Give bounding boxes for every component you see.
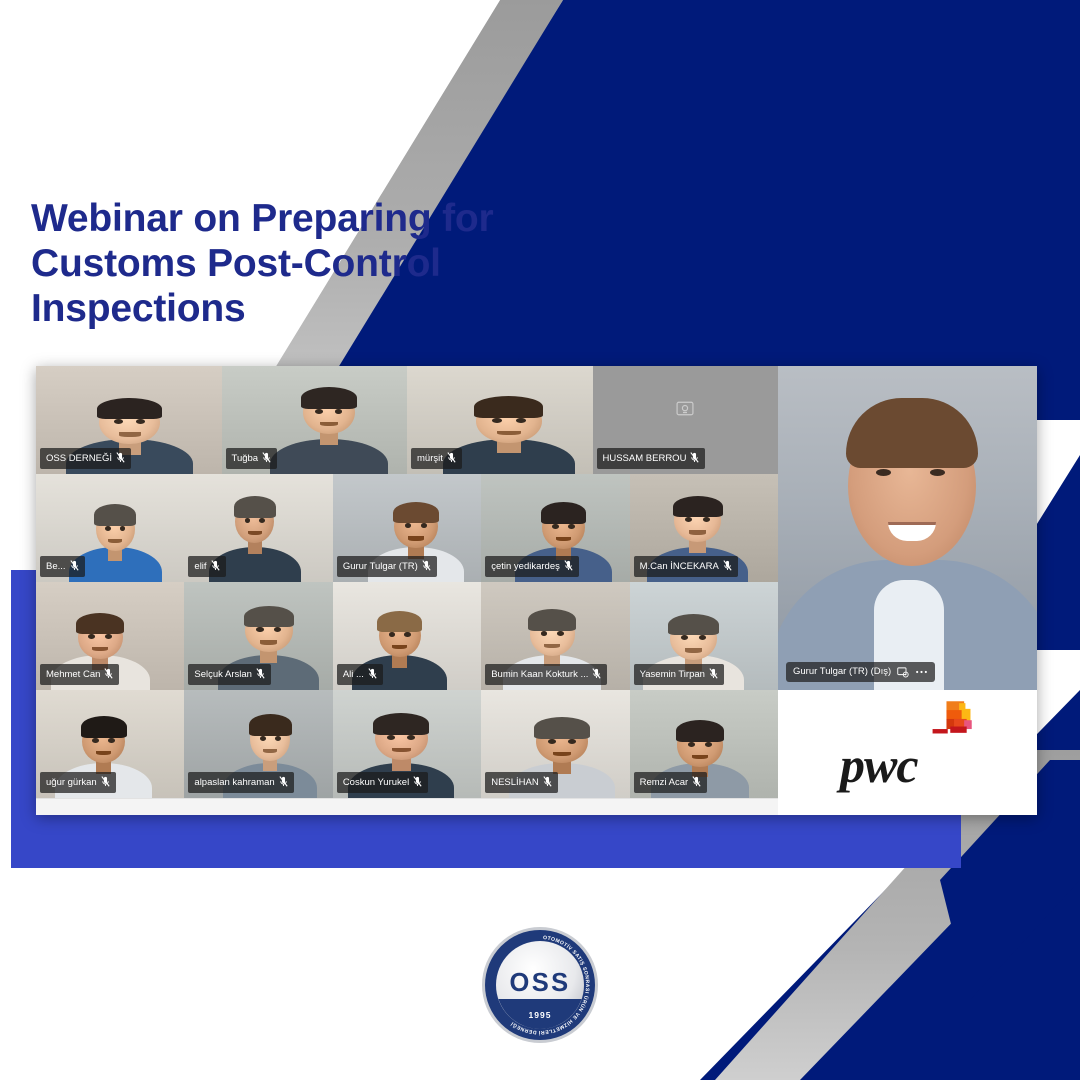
participant-mouth <box>689 530 706 534</box>
participant-tile[interactable]: Gurur Tulgar (TR) <box>333 474 481 582</box>
mic-muted-icon <box>422 560 431 574</box>
participant-nametag: Gurur Tulgar (TR) <box>337 556 437 577</box>
participant-name: HUSSAM BERROU <box>603 454 687 464</box>
participant-eye-right <box>120 526 126 531</box>
meeting-toolbar-strip <box>36 798 778 815</box>
participant-tile[interactable]: Bumin Kaan Kokturk ... <box>481 582 629 690</box>
participant-mouth <box>685 648 702 652</box>
participant-hair <box>81 716 127 738</box>
participant-tile[interactable]: Mehmet Can <box>36 582 184 690</box>
oss-acronym: OSS <box>509 969 570 997</box>
participant-eye-right <box>105 634 112 639</box>
participant-hair <box>534 717 590 739</box>
participant-hair <box>234 496 276 518</box>
participant-nametag: Yasemin Tirpan <box>634 664 724 685</box>
mic-muted-icon <box>709 668 718 682</box>
oss-association-logo: OSS 1995 OTOMOTİV SATIŞ SONRASI ÜRÜN VE … <box>480 925 600 1045</box>
participant-tile[interactable]: Tuğba <box>222 366 408 474</box>
participant-eye-left <box>492 418 502 423</box>
participant-eye-left <box>105 526 111 531</box>
participant-eye-right <box>516 418 526 423</box>
participant-hair <box>249 714 292 736</box>
active-speaker-name: Gurur Tulgar (TR) (Dış) <box>793 667 891 677</box>
participant-mouth <box>497 431 521 435</box>
mic-muted-icon <box>368 668 377 682</box>
participant-mouth <box>692 755 708 759</box>
participant-hair <box>673 496 723 518</box>
participant-tile[interactable]: mürşit <box>407 366 593 474</box>
participant-nametag: elif <box>188 556 225 577</box>
participant-eye-left <box>92 738 98 743</box>
participant-hair <box>97 398 161 420</box>
participant-hair <box>377 611 422 633</box>
active-speaker-tile[interactable]: Gurur Tulgar (TR) (Dış) <box>778 366 1037 690</box>
participant-tile[interactable]: HUSSAM BERROU <box>593 366 779 474</box>
participant-eye-left <box>552 524 558 529</box>
mic-muted-icon <box>256 668 265 682</box>
participant-mouth <box>556 537 571 541</box>
participant-nametag: Remzi Acar <box>634 772 708 793</box>
participant-nametag: M.Can İNCEKARA <box>634 556 738 577</box>
mic-muted-icon <box>692 776 701 790</box>
participant-hair <box>76 613 124 635</box>
participant-name: Remzi Acar <box>640 778 689 788</box>
camera-off-icon <box>675 399 695 424</box>
participant-eye-left <box>315 409 323 414</box>
webinar-screenshot: OSS DERNEĞİTuğbamürşitHUSSAM BERROUBe...… <box>36 366 1037 815</box>
participant-tile[interactable]: alpaslan kahraman <box>184 690 332 798</box>
participant-torso <box>270 439 389 474</box>
participant-hair <box>676 720 724 742</box>
participant-row: OSS DERNEĞİTuğbamürşitHUSSAM BERROU <box>36 366 778 474</box>
participant-nametag: mürşit <box>411 448 462 469</box>
participant-tile[interactable]: Yasemin Tirpan <box>630 582 778 690</box>
participant-name: Coskun Yurukel <box>343 778 409 788</box>
participant-nametag: Ali ... <box>337 664 383 685</box>
participant-tile[interactable]: OSS DERNEĞİ <box>36 366 222 474</box>
participant-tile[interactable]: Selçuk Arslan <box>184 582 332 690</box>
speaker-eye-left <box>876 469 891 476</box>
participant-hair <box>301 387 357 409</box>
mic-muted-icon <box>447 452 456 466</box>
participant-tile[interactable]: Be... <box>36 474 184 582</box>
participant-tile[interactable]: uğur gürkan <box>36 690 184 798</box>
participant-row: uğur gürkanalpaslan kahramanCoskun Yuruk… <box>36 690 778 798</box>
participant-grid-rows: OSS DERNEĞİTuğbamürşitHUSSAM BERROUBe...… <box>36 366 778 798</box>
mic-muted-icon <box>723 560 732 574</box>
mic-muted-icon <box>116 452 125 466</box>
mic-muted-icon <box>101 776 110 790</box>
slide-canvas: Webinar on Preparing for Customs Post-Co… <box>0 0 1080 1080</box>
participant-nametag: NESLİHAN <box>485 772 558 793</box>
pwc-logo-mark <box>916 700 982 748</box>
participant-eye-left <box>256 627 263 632</box>
pwc-wordmark: pwc <box>840 736 918 794</box>
participant-eye-left <box>548 739 556 744</box>
participant-tile[interactable]: NESLİHAN <box>481 690 629 798</box>
participant-name: Tuğba <box>232 454 259 464</box>
participant-name: Be... <box>46 562 66 572</box>
active-speaker-nametag: Gurur Tulgar (TR) (Dış) <box>786 662 935 682</box>
participant-nametag: Be... <box>40 556 85 577</box>
participant-eye-right <box>108 738 114 743</box>
participant-eye-left <box>688 742 695 747</box>
participant-tile[interactable]: Coskun Yurukel <box>333 690 481 798</box>
participant-mouth <box>544 644 560 648</box>
participant-tile[interactable]: çetin yedikardeş <box>481 474 629 582</box>
participant-name: uğur gürkan <box>46 778 97 788</box>
mic-muted-icon <box>413 776 422 790</box>
mic-muted-icon <box>543 776 552 790</box>
participant-eye-right <box>404 632 410 637</box>
speaker-eye-right <box>930 469 945 476</box>
participant-hair <box>474 396 543 418</box>
participant-nametag: Selçuk Arslan <box>188 664 271 685</box>
participant-name: alpaslan kahraman <box>194 778 274 788</box>
participant-tile[interactable]: Remzi Acar <box>630 690 778 798</box>
participant-tile[interactable]: Ali ... <box>333 582 481 690</box>
participant-tile[interactable]: M.Can İNCEKARA <box>630 474 778 582</box>
participant-eye-right <box>568 739 576 744</box>
participant-row: Be...elifGurur Tulgar (TR)çetin yedikard… <box>36 474 778 582</box>
participant-eye-left <box>260 736 266 741</box>
participant-grid: OSS DERNEĞİTuğbamürşitHUSSAM BERROUBe...… <box>36 366 778 815</box>
participant-name: Gurur Tulgar (TR) <box>343 562 418 572</box>
participant-name: Yasemin Tirpan <box>640 670 705 680</box>
more-options-icon[interactable] <box>915 666 928 678</box>
page-title: Webinar on Preparing for Customs Post-Co… <box>31 196 591 332</box>
participant-eye-right <box>568 524 574 529</box>
participant-nametag: Bumin Kaan Kokturk ... <box>485 664 607 685</box>
participant-nametag: Coskun Yurukel <box>337 772 428 793</box>
participant-hair <box>541 502 587 524</box>
participant-hair <box>528 609 576 631</box>
participant-name: Mehmet Can <box>46 670 100 680</box>
participant-eye-right <box>335 409 343 414</box>
participant-eye-right <box>407 735 415 740</box>
mic-muted-icon <box>690 452 699 466</box>
mic-muted-icon <box>564 560 573 574</box>
participant-name: Ali ... <box>343 670 364 680</box>
participant-eye-right <box>705 742 712 747</box>
participant-name: mürşit <box>417 454 443 464</box>
participant-nametag: OSS DERNEĞİ <box>40 448 131 469</box>
participant-nametag: uğur gürkan <box>40 772 116 793</box>
participant-row: Mehmet CanSelçuk ArslanAli ...Bumin Kaan… <box>36 582 778 690</box>
participant-hair <box>373 713 429 735</box>
participant-hair <box>94 504 136 526</box>
mic-muted-icon <box>262 452 271 466</box>
mic-muted-icon <box>592 668 601 682</box>
mic-muted-icon <box>70 560 79 574</box>
right-column: Gurur Tulgar (TR) (Dış) <box>778 366 1037 815</box>
participant-name: elif <box>194 562 206 572</box>
participant-name: M.Can İNCEKARA <box>640 562 719 572</box>
mic-muted-icon <box>104 668 113 682</box>
participant-eye-right <box>557 631 564 636</box>
participant-tile[interactable]: elif <box>184 474 332 582</box>
participant-nametag: Mehmet Can <box>40 664 119 685</box>
participant-mouth <box>108 539 122 543</box>
pwc-sponsor-logo: pwc <box>778 690 1037 815</box>
participant-name: çetin yedikardeş <box>491 562 560 572</box>
participant-hair <box>244 606 295 628</box>
mic-muted-icon <box>211 560 220 574</box>
participant-mouth <box>263 749 277 753</box>
participant-name: OSS DERNEĞİ <box>46 454 112 464</box>
oss-year: 1995 <box>529 1010 552 1020</box>
participant-nametag: HUSSAM BERROU <box>597 448 706 469</box>
participant-eye-left <box>389 632 395 637</box>
participant-mouth <box>320 422 339 426</box>
participant-name: NESLİHAN <box>491 778 539 788</box>
participant-eye-left <box>541 631 548 636</box>
participant-hair <box>393 502 439 524</box>
pin-participant-icon[interactable] <box>897 666 909 678</box>
participant-nametag: alpaslan kahraman <box>188 772 293 793</box>
participant-mouth <box>119 432 141 436</box>
participant-eye-right <box>259 518 265 523</box>
participant-hair <box>668 614 718 636</box>
participant-eye-right <box>275 736 281 741</box>
participant-eye-right <box>703 517 710 522</box>
participant-nametag: Tuğba <box>226 448 278 469</box>
participant-mouth <box>260 640 277 644</box>
participant-mouth <box>408 536 424 540</box>
participant-name: Selçuk Arslan <box>194 670 252 680</box>
participant-nametag: çetin yedikardeş <box>485 556 579 577</box>
participant-name: Bumin Kaan Kokturk ... <box>491 670 588 680</box>
mic-muted-icon <box>279 776 288 790</box>
participant-mouth <box>553 752 572 756</box>
